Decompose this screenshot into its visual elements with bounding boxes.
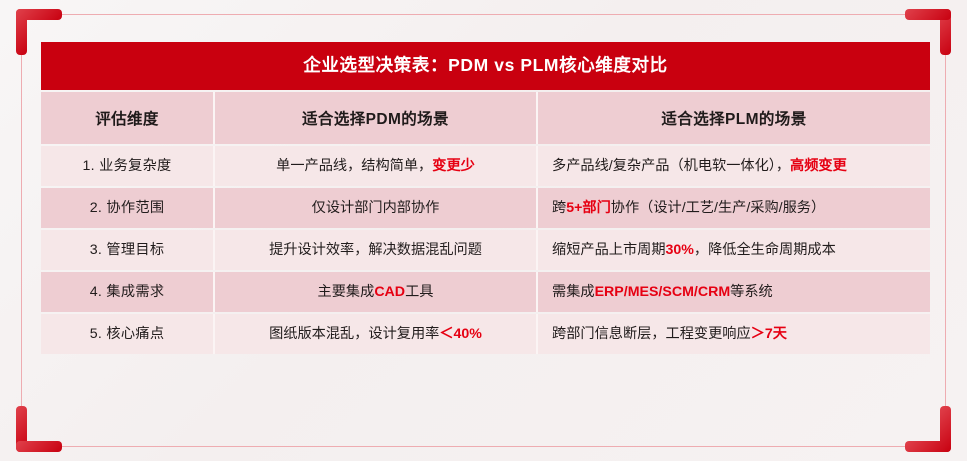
column-header-plm: 适合选择PLM的场景 [538,92,930,144]
table-row: 1. 业务复杂度单一产品线，结构简单，变更少多产品线/复杂产品（机电软一体化），… [41,146,930,186]
corner-bracket-bottom-right [905,406,951,452]
table-row: 3. 管理目标提升设计效率，解决数据混乱问题缩短产品上市周期30%，降低全生命周… [41,230,930,270]
table-body: 1. 业务复杂度单一产品线，结构简单，变更少多产品线/复杂产品（机电软一体化），… [41,146,930,354]
cell-plm-scenario: 跨5+部门协作（设计/工艺/生产/采购/服务） [538,188,930,228]
cell-pdm-scenario: 仅设计部门内部协作 [215,188,538,228]
highlighted-text: ＜40% [439,326,482,342]
cell-text: 工具 [405,284,433,300]
highlighted-text: 变更少 [432,158,475,174]
cell-text: 提升设计效率，解决数据混乱问题 [269,242,482,258]
cell-dimension: 3. 管理目标 [41,230,215,270]
cell-dimension: 4. 集成需求 [41,272,215,312]
cell-text: ，降低全生命周期成本 [694,242,836,258]
cell-text: 缩短产品上市周期 [552,242,666,258]
cell-text: 跨 [552,200,566,216]
cell-dimension: 2. 协作范围 [41,188,215,228]
cell-text: 跨部门信息断层，工程变更响应 [552,326,751,342]
cell-text: 协作（设计/工艺/生产/采购/服务） [611,200,825,216]
table-header-row: 评估维度 适合选择PDM的场景 适合选择PLM的场景 [41,92,930,144]
cell-text: 需集成 [552,284,595,300]
corner-bracket-bottom-left [16,406,62,452]
decision-table: 企业选型决策表：PDM vs PLM核心维度对比 评估维度 适合选择PDM的场景… [41,40,930,356]
cell-dimension: 1. 业务复杂度 [41,146,215,186]
cell-pdm-scenario: 单一产品线，结构简单，变更少 [215,146,538,186]
table-row: 2. 协作范围仅设计部门内部协作跨5+部门协作（设计/工艺/生产/采购/服务） [41,188,930,228]
cell-pdm-scenario: 提升设计效率，解决数据混乱问题 [215,230,538,270]
cell-pdm-scenario: 主要集成CAD工具 [215,272,538,312]
cell-pdm-scenario: 图纸版本混乱，设计复用率＜40% [215,314,538,354]
highlighted-text: ERP/MES/SCM/CRM [595,284,731,300]
highlighted-text: 30% [666,242,694,258]
highlighted-text: CAD [374,284,405,300]
cell-text: 多产品线/复杂产品（机电软一体化）， [552,158,790,174]
highlighted-text: 高频变更 [790,158,847,174]
cell-plm-scenario: 跨部门信息断层，工程变更响应＞7天 [538,314,930,354]
cell-plm-scenario: 需集成ERP/MES/SCM/CRM等系统 [538,272,930,312]
column-header-dimension: 评估维度 [41,92,215,144]
highlighted-text: 5+部门 [566,200,611,216]
table-title-row: 企业选型决策表：PDM vs PLM核心维度对比 [41,42,930,90]
cell-text: 主要集成 [318,284,375,300]
page-frame: 企业选型决策表：PDM vs PLM核心维度对比 评估维度 适合选择PDM的场景… [0,0,967,461]
cell-text: 仅设计部门内部协作 [312,200,440,216]
column-header-pdm: 适合选择PDM的场景 [215,92,538,144]
cell-text: 单一产品线，结构简单， [276,158,432,174]
cell-plm-scenario: 多产品线/复杂产品（机电软一体化），高频变更 [538,146,930,186]
table-row: 5. 核心痛点图纸版本混乱，设计复用率＜40%跨部门信息断层，工程变更响应＞7天 [41,314,930,354]
cell-text: 等系统 [730,284,773,300]
cell-text: 图纸版本混乱，设计复用率 [269,326,439,342]
cell-dimension: 5. 核心痛点 [41,314,215,354]
cell-plm-scenario: 缩短产品上市周期30%，降低全生命周期成本 [538,230,930,270]
highlighted-text: ＞7天 [751,326,787,342]
table-row: 4. 集成需求主要集成CAD工具需集成ERP/MES/SCM/CRM等系统 [41,272,930,312]
table-title: 企业选型决策表：PDM vs PLM核心维度对比 [41,42,930,90]
